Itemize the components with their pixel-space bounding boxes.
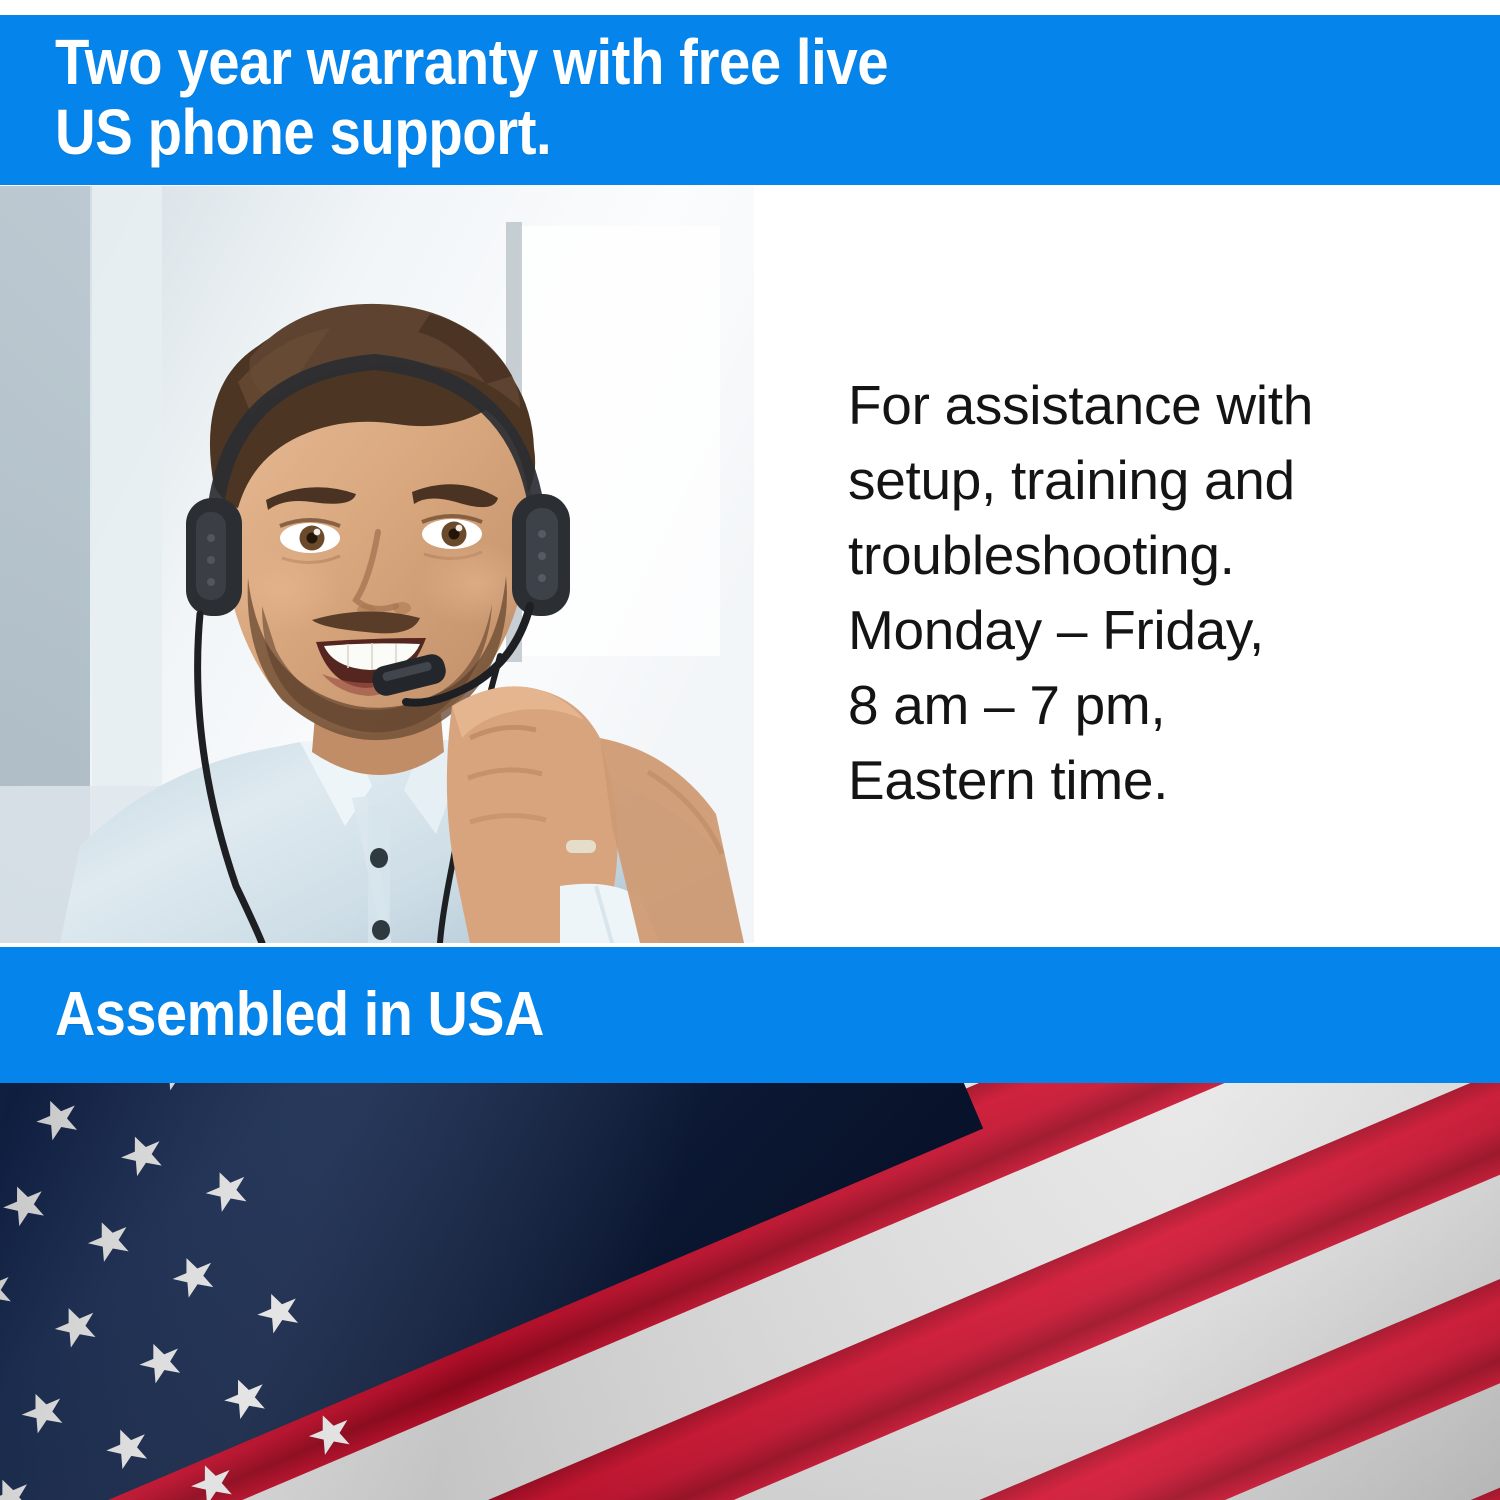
support-hours-copy: For assistance with setup, training and … xyxy=(848,368,1408,818)
marketing-infographic: Two year warranty with free live US phon… xyxy=(0,0,1500,1500)
warranty-headline: Two year warranty with free live US phon… xyxy=(55,27,1111,167)
warranty-banner: Two year warranty with free live US phon… xyxy=(0,15,1500,185)
support-agent-illustration xyxy=(0,186,754,943)
assembled-headline: Assembled in USA xyxy=(55,983,544,1047)
us-flag-illustration xyxy=(0,1083,1500,1500)
assembled-banner: Assembled in USA xyxy=(0,947,1500,1083)
us-flag-photo xyxy=(0,1083,1500,1500)
support-agent-photo xyxy=(0,186,754,943)
